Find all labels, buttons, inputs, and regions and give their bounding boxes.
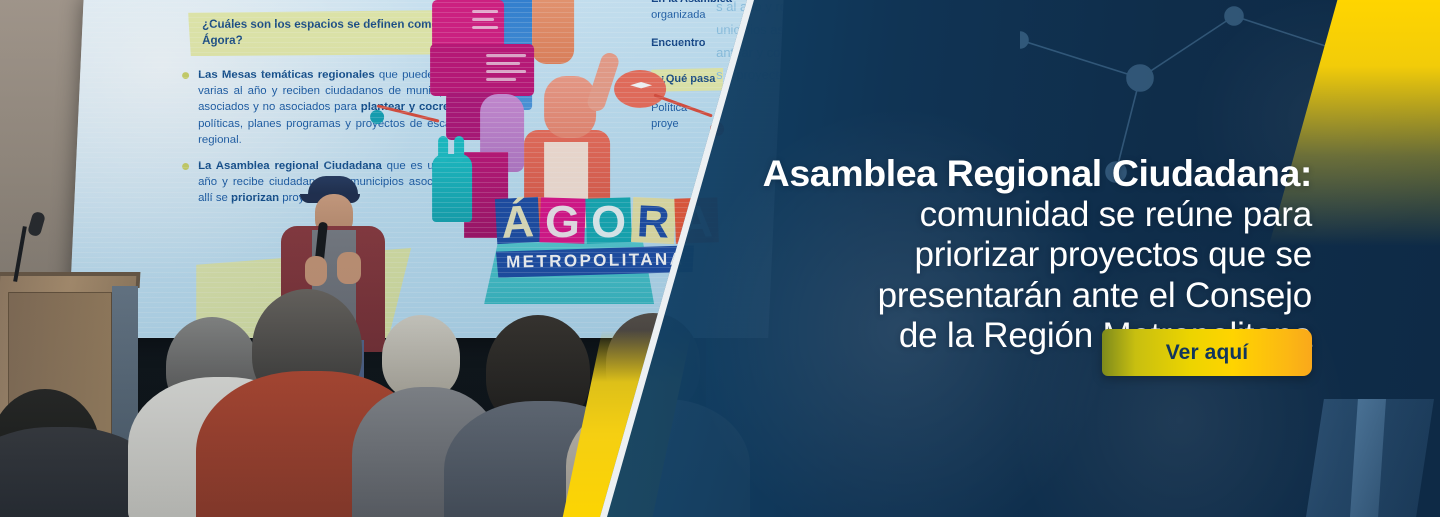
illus-figure-blue bbox=[486, 0, 532, 110]
slide-p1-mid: que pueden ser varias al año y reciben c… bbox=[198, 69, 460, 113]
headline-strong: Asamblea Regional Ciudadana: bbox=[612, 152, 1312, 194]
peace-hand-icon bbox=[432, 154, 472, 222]
slide-paragraph-1: Las Mesas temáticas regionales que puede… bbox=[188, 67, 460, 148]
illus-hand bbox=[480, 94, 524, 172]
headline-line-1: comunidad se reúne para bbox=[612, 195, 1312, 235]
illus-card-3 bbox=[446, 92, 494, 140]
illus-figure-orange bbox=[532, 0, 574, 64]
slide-col2-line3: Encuentro bbox=[651, 37, 705, 49]
graduation-cap-icon bbox=[630, 82, 652, 90]
slide-p1-bold2: plantear y cocrear bbox=[361, 101, 460, 113]
slide-teal-dot bbox=[471, 100, 489, 118]
bullet-icon bbox=[182, 163, 189, 170]
ver-aqui-button[interactable]: Ver aquí bbox=[1102, 329, 1312, 376]
slide-p1-tail: políticas, planes programas y proyectos … bbox=[198, 118, 460, 146]
slide-question-2: ¿Qué pasa bbox=[651, 68, 723, 92]
illus-speech-bubble bbox=[614, 70, 666, 108]
illus-speaker-arm bbox=[585, 51, 621, 114]
slide-p2-lead: La Asamblea regional Ciudadana bbox=[198, 160, 382, 172]
slide-question-1: ¿Cuáles son los espacios se definen como… bbox=[188, 10, 460, 56]
slide-col2-line1: En la Asamblea bbox=[651, 0, 732, 5]
headline-line-3: presentarán ante el Consejo bbox=[612, 276, 1312, 316]
illus-card-2 bbox=[430, 44, 534, 96]
slide-p2-bold2: priorizan bbox=[231, 192, 279, 204]
headline-line-2: priorizar proyectos que se bbox=[612, 235, 1312, 275]
slide-p1-lead: Las Mesas temáticas regionales bbox=[198, 69, 375, 81]
bullet-icon bbox=[182, 72, 189, 79]
banner-copy: Asamblea Regional Ciudadana: comunidad s… bbox=[612, 152, 1312, 356]
illus-speaker-head bbox=[544, 76, 596, 138]
hero-banner: ¿Cuáles son los espacios se definen como… bbox=[0, 0, 1440, 517]
illus-card-1 bbox=[432, 0, 504, 52]
